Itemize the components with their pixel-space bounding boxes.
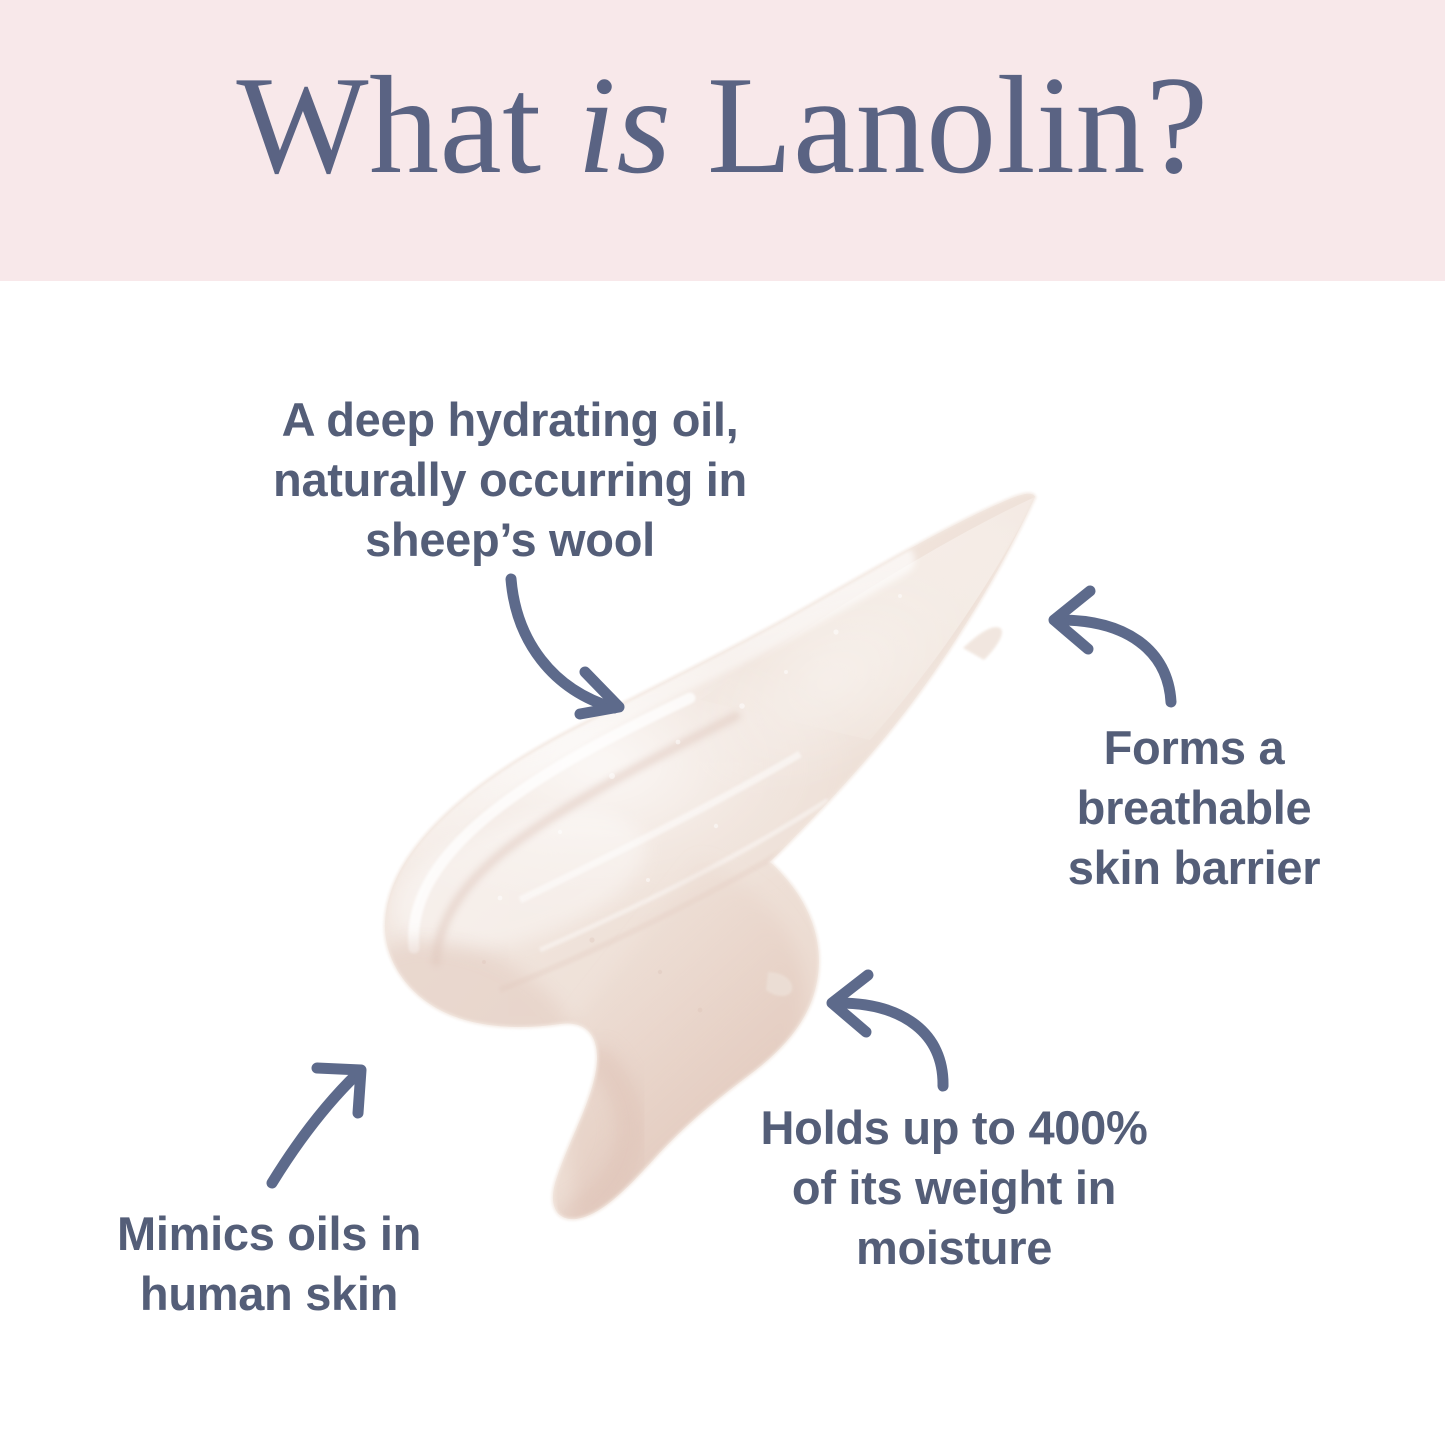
curved-arrow-down-right-icon [511, 579, 619, 714]
callout-moisture-capacity: Holds up to 400% of its weight in moistu… [698, 1098, 1210, 1278]
page-title-emphasis: is [577, 48, 671, 203]
curved-arrow-up-left-icon-bottom [832, 975, 943, 1086]
curved-arrow-up-right-icon [272, 1068, 361, 1183]
curved-arrow-up-left-icon-right [1054, 591, 1171, 702]
infographic-page: What is Lanolin? [0, 0, 1445, 1445]
callout-mimics-skin-oils: Mimics oils in human skin [76, 1204, 462, 1324]
callout-hydrating-oil: A deep hydrating oil, naturally occurrin… [196, 390, 824, 570]
callout-breathable-barrier: Forms a breathable skin barrier [1022, 718, 1366, 898]
page-title-prefix: What [236, 48, 577, 203]
page-title-suffix: Lanolin? [671, 48, 1208, 203]
page-title: What is Lanolin? [0, 56, 1445, 196]
